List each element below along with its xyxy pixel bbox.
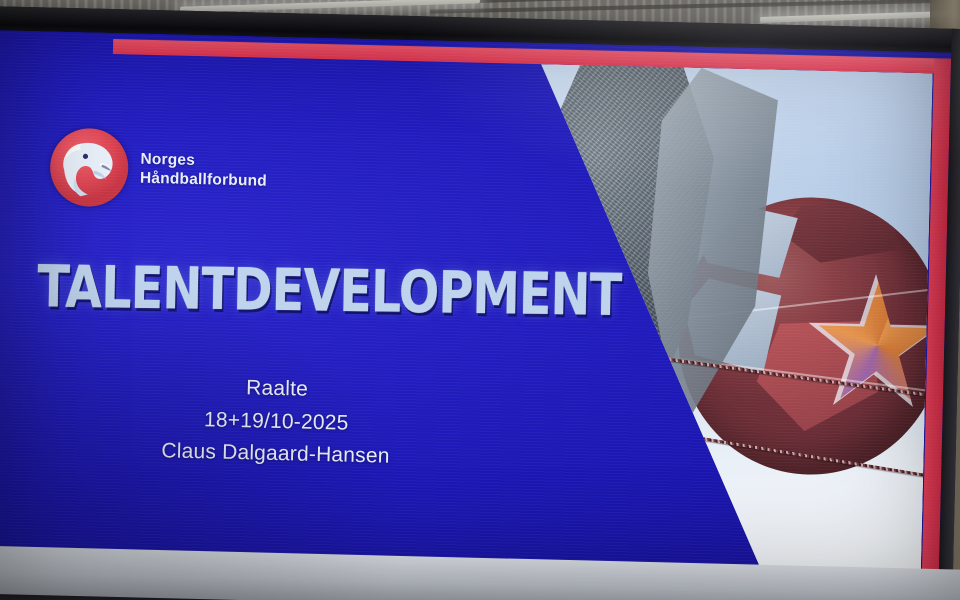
display-monitor: Norges Håndballforbund TALENTDEVELOPMENT… — [0, 6, 960, 600]
presentation-slide: Norges Håndballforbund TALENTDEVELOPMENT… — [0, 30, 951, 600]
federation-logo: Norges Håndballforbund — [49, 128, 268, 211]
screen-surface: Norges Håndballforbund TALENTDEVELOPMENT… — [0, 30, 951, 600]
lion-head-crest-icon — [49, 128, 129, 208]
federation-logo-text: Norges Håndballforbund — [140, 149, 268, 191]
slide-subtitle-block: Raalte 18+19/10-2025 Claus Dalgaard-Hans… — [35, 367, 517, 476]
logo-line-1: Norges — [140, 150, 195, 168]
ball-panel — [780, 197, 899, 283]
slide-title: TALENTDEVELOPMENT — [37, 257, 622, 324]
logo-line-2: Håndballforbund — [140, 169, 267, 191]
screenshot-frame: Norges Håndballforbund TALENTDEVELOPMENT… — [0, 0, 960, 600]
